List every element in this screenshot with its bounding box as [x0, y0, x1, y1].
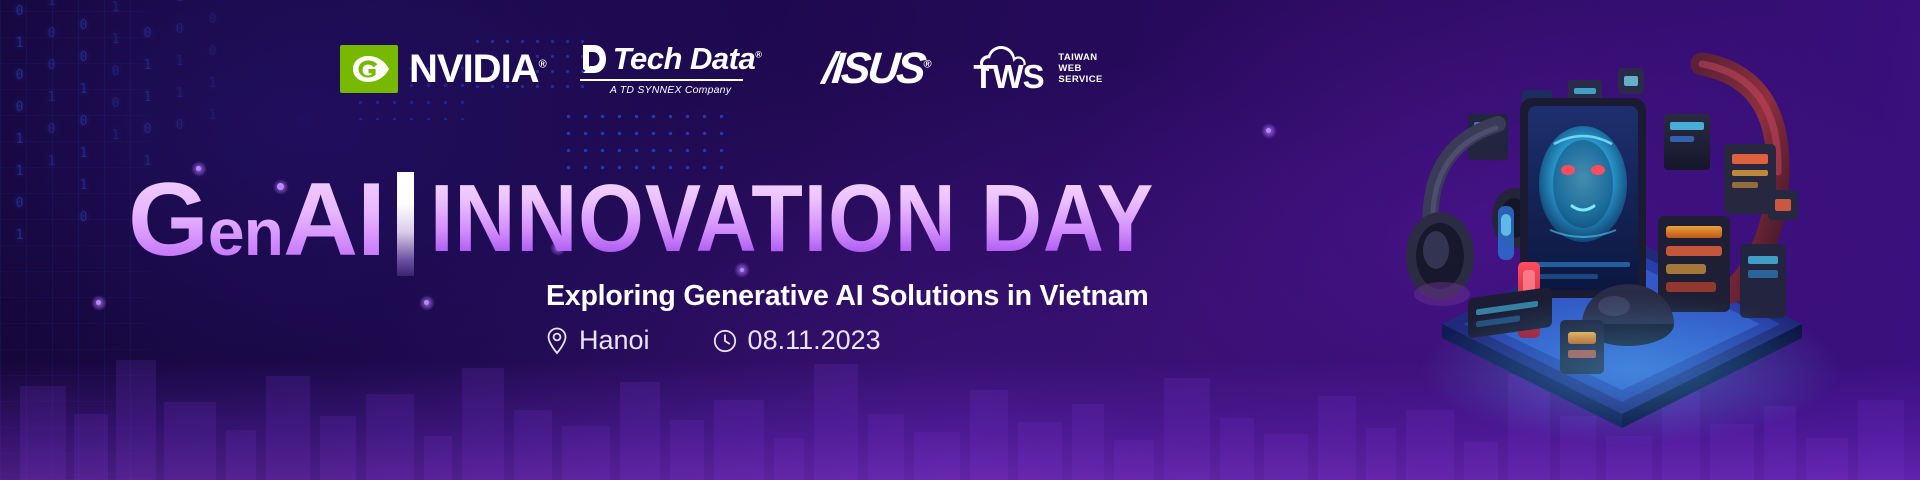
- binary-column: 1 0 1 1 0: [172, 0, 187, 134]
- techdata-wordmark: Tech Data®: [613, 43, 762, 74]
- partner-logo-row: NVIDIA® Tech Data® A TD SYNNEX Company /…: [340, 40, 1103, 98]
- binary-column: 1 0 0 1 0 1: [44, 0, 59, 170]
- nvidia-eye-icon: [340, 45, 398, 93]
- date-label: 08.11.2023: [748, 325, 881, 356]
- artwork-glow: [1416, 294, 1846, 444]
- tws-tagline: TAIWAN WEB SERVICE: [1058, 52, 1102, 86]
- event-location: Hanoi: [546, 325, 650, 356]
- event-banner: 0 1 0 0 1 1 0 1 1 0 0 1 0 1 0 0 1 0 1 1 …: [0, 0, 1920, 480]
- logo-asus: /ISUS®: [823, 40, 931, 98]
- event-subtitle: Exploring Generative AI Solutions in Vie…: [546, 280, 1149, 313]
- headline-main: INNOVATION DAY: [430, 170, 1154, 268]
- techdata-tagline: A TD SYNNEX Company: [610, 84, 731, 96]
- event-date: 08.11.2023: [713, 325, 881, 356]
- clock-icon: [713, 329, 737, 353]
- headline-block: GenAI INNOVATION DAY: [128, 170, 1253, 280]
- headline-divider: [397, 172, 414, 276]
- map-pin-icon: [546, 327, 568, 355]
- logo-tws: TWS TAIWAN WEB SERVICE: [971, 40, 1102, 98]
- logo-tech-data: Tech Data® A TD SYNNEX Company: [580, 40, 762, 98]
- location-label: Hanoi: [579, 325, 650, 356]
- brand-genai: GenAI: [128, 170, 385, 282]
- binary-column: 0 0 1 1: [205, 12, 220, 124]
- techdata-rule: [580, 79, 743, 81]
- sparkle: [424, 300, 429, 305]
- binary-column: 0 0 1 0 1 1 0: [76, 18, 91, 226]
- techdata-d-icon: [580, 43, 606, 75]
- binary-column: 1 1 0 0 1: [108, 0, 123, 144]
- sparkle: [96, 300, 101, 305]
- tws-wordmark: TWS: [973, 60, 1043, 93]
- event-meta: Hanoi 08.11.2023: [546, 325, 881, 356]
- binary-column: 0 1 0 0 1 1 0 1: [12, 4, 27, 244]
- asus-wordmark-icon: /ISUS®: [821, 47, 934, 91]
- sparkle: [1266, 128, 1271, 133]
- ai-isometric-illustration: [1372, 0, 1892, 464]
- nvidia-wordmark: NVIDIA®: [409, 49, 546, 89]
- logo-nvidia: NVIDIA®: [340, 40, 546, 98]
